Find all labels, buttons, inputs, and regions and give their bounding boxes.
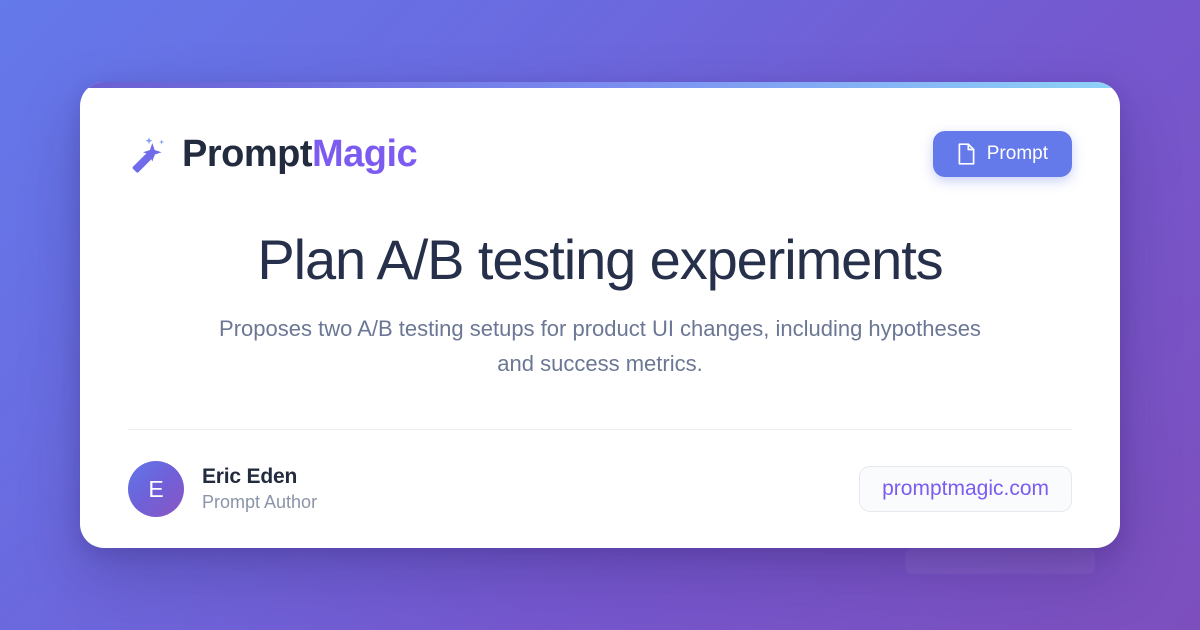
og-image-canvas: PromptMagic Prompt Plan A/B testing expe…: [0, 0, 1200, 630]
brand-logo[interactable]: PromptMagic: [128, 134, 417, 174]
author-name: Eric Eden: [202, 465, 317, 489]
prompt-card: PromptMagic Prompt Plan A/B testing expe…: [80, 82, 1120, 548]
author-block: E Eric Eden Prompt Author: [128, 461, 317, 517]
document-icon: [957, 143, 976, 165]
magic-wand-icon: [128, 134, 168, 174]
author-meta: Eric Eden Prompt Author: [202, 465, 317, 513]
author-role: Prompt Author: [202, 492, 317, 513]
brand-wordmark: PromptMagic: [182, 135, 417, 173]
card-inner: PromptMagic Prompt Plan A/B testing expe…: [80, 82, 1120, 548]
page-subtitle: Proposes two A/B testing setups for prod…: [215, 312, 985, 380]
card-header: PromptMagic Prompt: [128, 126, 1072, 182]
domain-badge[interactable]: promptmagic.com: [859, 466, 1072, 512]
background-ghost-artifact: [905, 548, 1095, 574]
page-title: Plan A/B testing experiments: [257, 230, 942, 290]
brand-word-prompt: Prompt: [182, 133, 312, 175]
card-footer: E Eric Eden Prompt Author promptmagic.co…: [128, 430, 1072, 548]
brand-word-magic: Magic: [312, 133, 417, 175]
prompt-button-label: Prompt: [987, 143, 1048, 165]
prompt-button[interactable]: Prompt: [933, 131, 1072, 177]
avatar: E: [128, 461, 184, 517]
card-content: Plan A/B testing experiments Proposes tw…: [128, 182, 1072, 429]
